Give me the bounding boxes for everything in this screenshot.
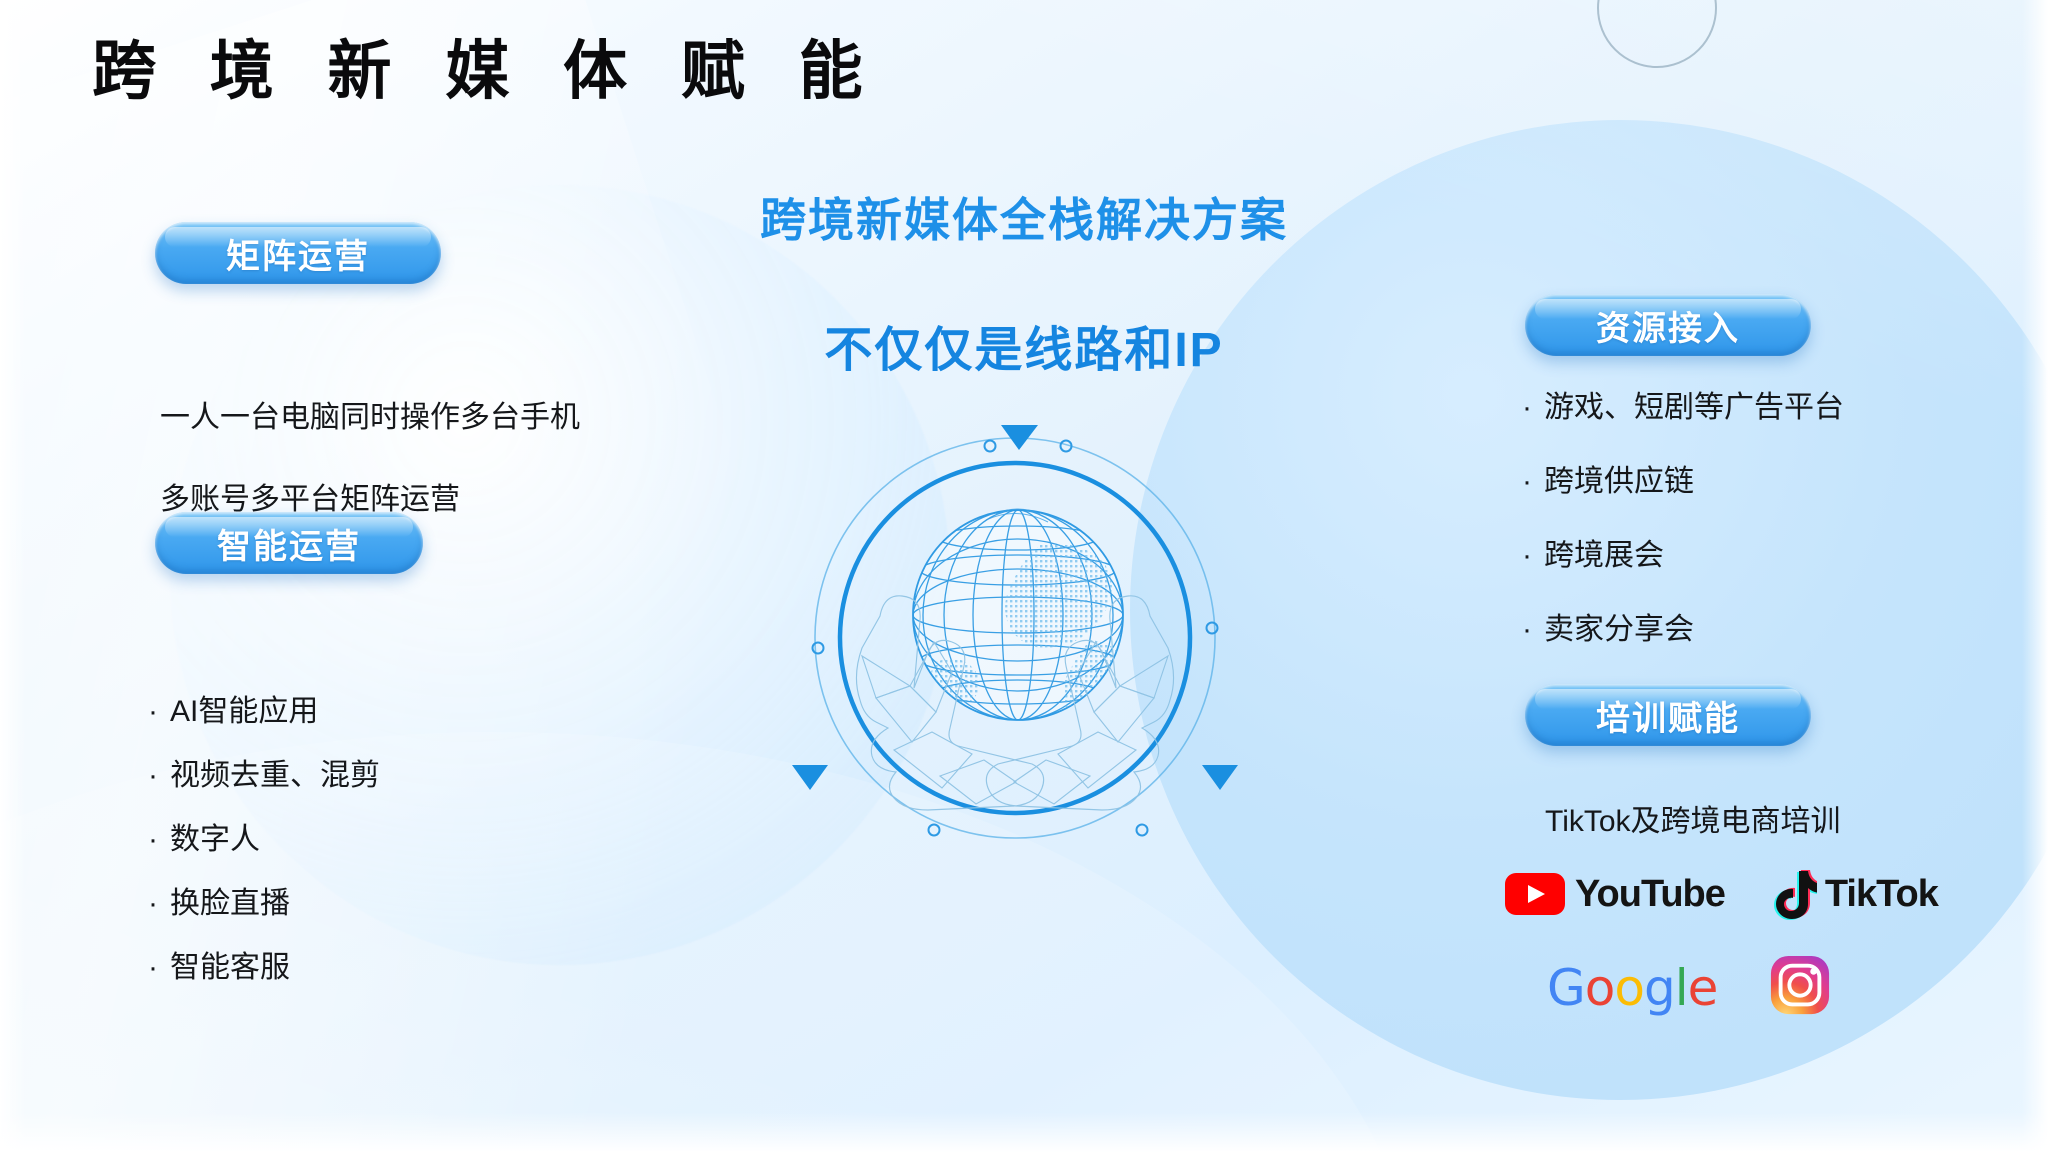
list-item-label: 换脸直播 <box>170 886 290 922</box>
list-item: · 卖家分享会 <box>1522 612 1844 648</box>
bullet-marker: · <box>1522 393 1532 423</box>
matrix-paragraph-1: 一人一台电脑同时操作多台手机 <box>160 398 580 439</box>
instagram-camera-icon <box>1769 954 1831 1016</box>
badge-label: 培训赋能 <box>1596 691 1740 740</box>
bullet-marker: · <box>148 761 158 791</box>
list-item: · 换脸直播 <box>148 886 380 922</box>
list-item: · 数字人 <box>148 822 380 858</box>
training-paragraph: TikTok及跨境电商培训 <box>1545 796 1841 840</box>
resource-access-list: · 游戏、短剧等广告平台 · 跨境供应链 · 跨境展会 · 卖家分享会 <box>1522 390 1844 686</box>
list-item: · 智能客服 <box>148 950 380 986</box>
list-item-label: 数字人 <box>170 822 260 858</box>
page-title: 跨 境 新 媒 体 赋 能 <box>92 36 881 106</box>
youtube-logo[interactable]: YouTube <box>1505 873 1725 916</box>
bullet-marker: · <box>148 953 158 983</box>
badge-matrix-operations[interactable]: 矩阵运营 <box>155 222 441 284</box>
globe-in-hands-illustration <box>790 410 1240 860</box>
left-edge-fade <box>0 0 26 1152</box>
badge-resource-access[interactable]: 资源接入 <box>1525 294 1811 356</box>
list-item-label: 视频去重、混剪 <box>170 758 380 794</box>
tiktok-logo-label: TikTok <box>1825 873 1938 916</box>
right-edge-fade <box>2022 0 2048 1152</box>
list-item: · 游戏、短剧等广告平台 <box>1522 390 1844 426</box>
bullet-marker: · <box>148 697 158 727</box>
badge-training-empowerment[interactable]: 培训赋能 <box>1525 684 1811 746</box>
tiktok-logo[interactable]: TikTok <box>1771 868 1938 920</box>
list-item-label: AI智能应用 <box>170 694 318 730</box>
logo-row-1: YouTube TikTok <box>1505 868 1975 920</box>
badge-label: 资源接入 <box>1596 301 1740 350</box>
badge-smart-operations[interactable]: 智能运营 <box>155 512 423 574</box>
bottom-edge-fade <box>0 1112 2048 1152</box>
youtube-play-icon <box>1505 873 1565 915</box>
list-item: · 跨境供应链 <box>1522 464 1844 500</box>
list-item-label: 卖家分享会 <box>1544 612 1694 648</box>
list-item-label: 智能客服 <box>170 950 290 986</box>
list-item: · AI智能应用 <box>148 694 380 730</box>
bullet-marker: · <box>148 825 158 855</box>
list-item: · 视频去重、混剪 <box>148 758 380 794</box>
smart-operations-list: · AI智能应用 · 视频去重、混剪 · 数字人 · 换脸直播 · 智能客服 <box>148 694 380 1014</box>
badge-label: 智能运营 <box>217 519 361 568</box>
bullet-marker: · <box>148 889 158 919</box>
youtube-logo-label: YouTube <box>1575 873 1725 916</box>
instagram-logo[interactable] <box>1769 954 1831 1021</box>
badge-label: 矩阵运营 <box>226 229 370 278</box>
list-item-label: 游戏、短剧等广告平台 <box>1544 390 1844 426</box>
list-item-label: 跨境供应链 <box>1544 464 1694 500</box>
bullet-marker: · <box>1522 541 1532 571</box>
logo-row-2: Google <box>1547 954 1975 1021</box>
list-item-label: 跨境展会 <box>1544 538 1664 574</box>
bullet-marker: · <box>1522 615 1532 645</box>
google-logo[interactable]: Google <box>1547 963 1717 1013</box>
partner-logos: YouTube TikTok Google <box>1505 868 1975 1021</box>
slide-canvas: 跨 境 新 媒 体 赋 能 跨境新媒体全栈解决方案 不仅仅是线路和IP <box>0 0 2048 1152</box>
list-item: · 跨境展会 <box>1522 538 1844 574</box>
tiktok-note-icon <box>1771 868 1817 920</box>
bullet-marker: · <box>1522 467 1532 497</box>
